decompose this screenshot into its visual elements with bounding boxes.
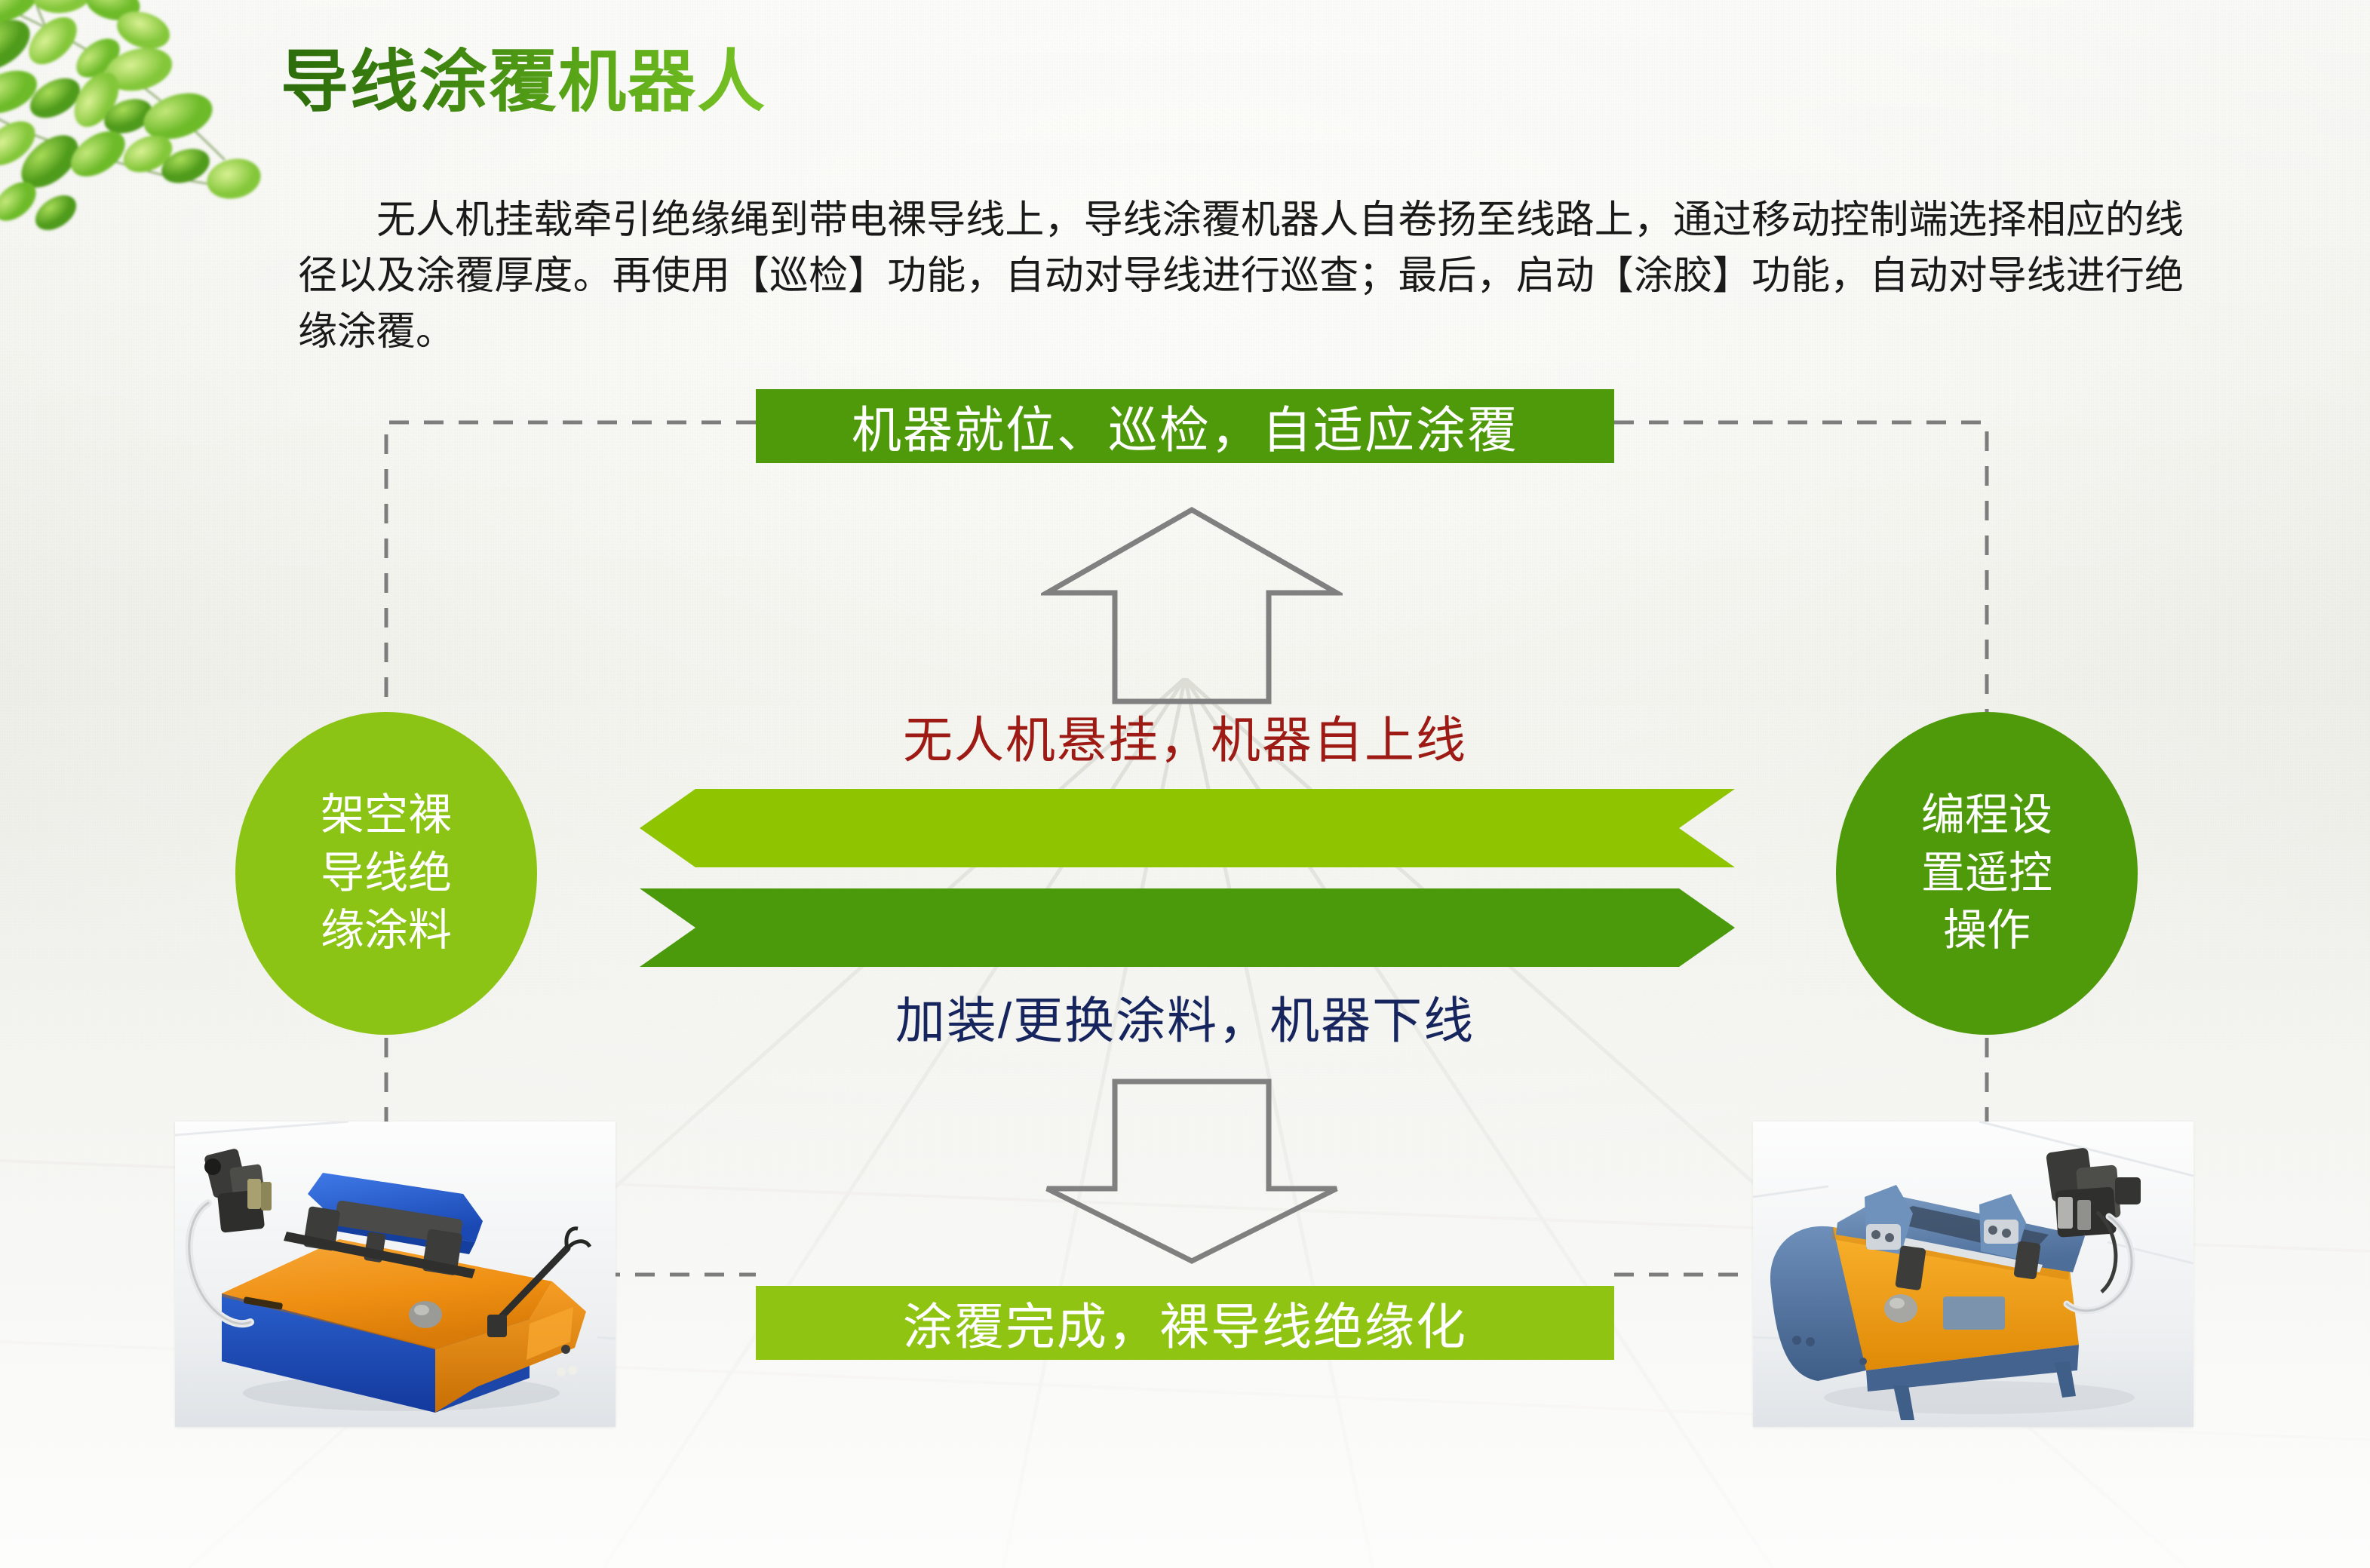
circle-left-line-1: 架空裸 <box>321 787 452 845</box>
circle-right-line-1: 编程设 <box>1921 787 2052 845</box>
slide-canvas: 导线涂覆机器人 无人机挂载牵引绝缘绳到带电裸导线上，导线涂覆机器人自卷扬至线路上… <box>0 0 2370 1568</box>
page-title: 导线涂覆机器人 <box>281 47 766 118</box>
arrow-down-icon <box>1041 1077 1343 1266</box>
robot-photo-left <box>175 1122 616 1427</box>
circle-right-programming-remote-control: 编程设 置遥控 操作 <box>1836 712 2138 1035</box>
robot-photo-right <box>1753 1122 2193 1427</box>
intro-paragraph: 无人机挂载牵引绝缘绳到带电裸导线上，导线涂覆机器人自卷扬至线路上，通过移动控制端… <box>298 193 2184 360</box>
circle-left-raw-conductor-coating: 架空裸 导线绝 缘涂料 <box>235 712 537 1035</box>
circle-left-line-3: 缘涂料 <box>321 902 452 960</box>
chevron-arrow-left <box>640 789 1735 867</box>
banner-bottom-label: 涂覆完成，裸导线绝缘化 <box>903 1287 1467 1359</box>
arrow-up-icon <box>1041 504 1343 707</box>
circle-right-line-2: 置遥控 <box>1921 845 2052 903</box>
circle-right-line-3: 操作 <box>1943 902 2031 960</box>
chevron-arrow-right <box>640 888 1735 967</box>
green-leaves-decoration-icon <box>0 0 293 235</box>
banner-top: 机器就位、巡检，自适应涂覆 <box>756 389 1614 463</box>
banner-top-label: 机器就位、巡检，自适应涂覆 <box>852 390 1518 462</box>
circle-left-line-2: 导线绝 <box>321 845 452 903</box>
banner-bottom: 涂覆完成，裸导线绝缘化 <box>756 1286 1614 1360</box>
